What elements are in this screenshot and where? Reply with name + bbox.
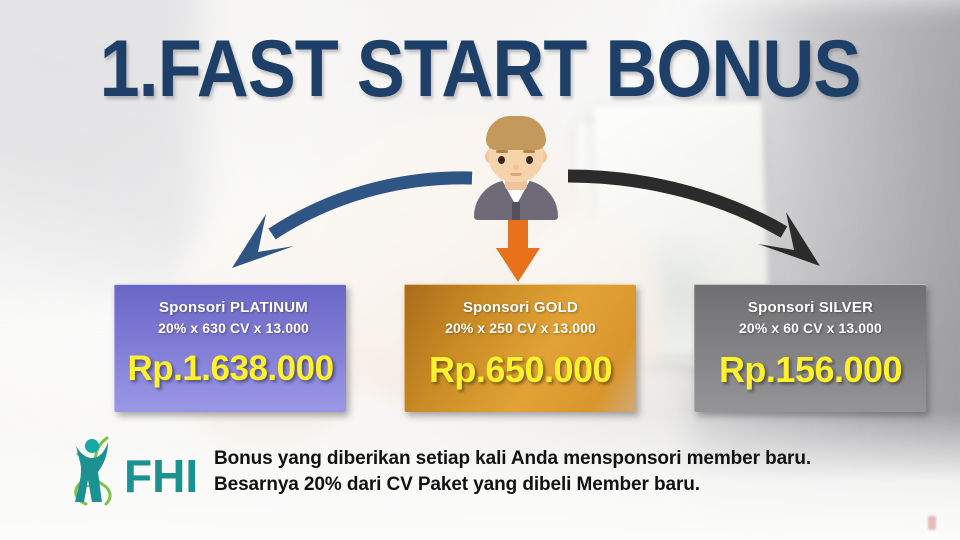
caption-line-1: Bonus yang diberikan setiap kali Anda me… — [214, 446, 914, 472]
fhi-logo-person-icon — [75, 439, 108, 502]
platinum-formula: 20% x 630 CV x 13.000 — [158, 319, 309, 337]
bonus-card-platinum[interactable]: Sponsori PLATINUM 20% x 630 CV x 13.000 … — [114, 284, 346, 412]
avatar-tie — [512, 202, 520, 220]
avatar-nose — [513, 165, 519, 170]
corner-watermark — [928, 516, 936, 530]
gold-formula: 20% x 250 CV x 13.000 — [445, 319, 596, 337]
avatar-eyebrow-right — [523, 150, 535, 153]
slide-canvas: 1.FAST START BONUS — [0, 0, 960, 540]
silver-amount: Rp.156.000 — [719, 349, 902, 391]
fhi-logo-text: FHI — [124, 450, 198, 502]
avatar-mouth — [510, 173, 522, 176]
avatar-eyebrow-left — [496, 150, 508, 153]
platinum-amount: Rp.1.638.000 — [127, 349, 333, 389]
bonus-card-silver[interactable]: Sponsori SILVER 20% x 60 CV x 13.000 Rp.… — [694, 284, 926, 412]
avatar-hair — [486, 116, 546, 150]
page-title: 1.FAST START BONUS — [0, 23, 960, 115]
bonus-card-gold[interactable]: Sponsori GOLD 20% x 250 CV x 13.000 Rp.6… — [404, 284, 636, 412]
gold-amount: Rp.650.000 — [429, 349, 612, 391]
fhi-logo: FHI — [58, 432, 208, 506]
silver-label: Sponsori SILVER — [748, 299, 873, 318]
gold-label: Sponsori GOLD — [463, 299, 578, 318]
avatar-eye-right — [526, 156, 533, 164]
caption-line-2: Besarnya 20% dari CV Paket yang dibeli M… — [214, 472, 914, 498]
avatar-eye-left — [498, 156, 505, 164]
caption-block: Bonus yang diberikan setiap kali Anda me… — [214, 446, 914, 497]
platinum-label: Sponsori PLATINUM — [159, 299, 308, 318]
silver-formula: 20% x 60 CV x 13.000 — [739, 319, 882, 337]
person-avatar — [470, 112, 562, 220]
